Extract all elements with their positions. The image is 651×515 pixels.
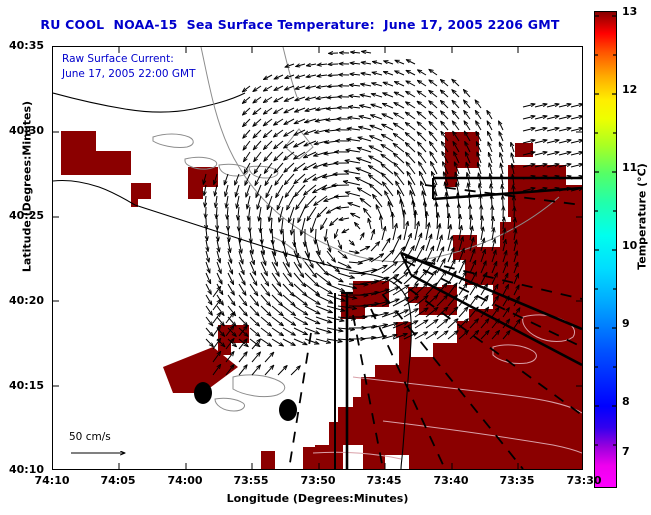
map-plot-area[interactable]: Raw Surface Current: June 17, 2005 22:00… xyxy=(52,46,583,470)
radar-station-markers xyxy=(194,382,297,421)
x-tick-74-05: 74:05 xyxy=(88,474,148,487)
colorbar xyxy=(594,11,617,488)
colorbar-label: Temperature (°C) xyxy=(636,157,649,277)
x-tick-73-30: 73:30 xyxy=(554,474,614,487)
x-axis-label: Longitude (Degrees:Minutes) xyxy=(52,492,583,505)
x-tick-73-40: 73:40 xyxy=(421,474,481,487)
x-tick-73-55: 73:55 xyxy=(221,474,281,487)
colorbar-tick-9: 9 xyxy=(622,317,630,330)
figure: RU COOL NOAA-15 Sea Surface Temperature:… xyxy=(0,0,651,515)
y-tick-40-15: 40:15 xyxy=(0,379,44,392)
x-tick-73-35: 73:35 xyxy=(487,474,547,487)
annotation-line-2: June 17, 2005 22:00 GMT xyxy=(62,68,196,80)
colorbar-tick-8: 8 xyxy=(622,395,630,408)
x-tick-73-45: 73:45 xyxy=(354,474,414,487)
x-tick-74-00: 74:00 xyxy=(155,474,215,487)
radar-station-marker xyxy=(194,382,212,404)
colorbar-tick-7: 7 xyxy=(622,445,630,458)
colorbar-tick-13: 13 xyxy=(622,5,637,18)
colorbar-tick-12: 12 xyxy=(622,83,637,96)
colorbar-gradient xyxy=(595,12,616,487)
x-tick-74-10: 74:10 xyxy=(22,474,82,487)
scale-legend-label: 50 cm/s xyxy=(69,431,111,443)
chart-title: RU COOL NOAA-15 Sea Surface Temperature:… xyxy=(0,17,600,32)
x-tick-73-50: 73:50 xyxy=(288,474,348,487)
y-axis-label: Latitude (Degrees:Minutes) xyxy=(21,97,34,277)
y-tick-40-35: 40:35 xyxy=(0,39,44,52)
map-canvas xyxy=(53,47,582,469)
y-tick-40-20: 40:20 xyxy=(0,294,44,307)
radar-station-marker xyxy=(279,399,297,421)
annotation-line-1: Raw Surface Current: xyxy=(62,53,174,65)
